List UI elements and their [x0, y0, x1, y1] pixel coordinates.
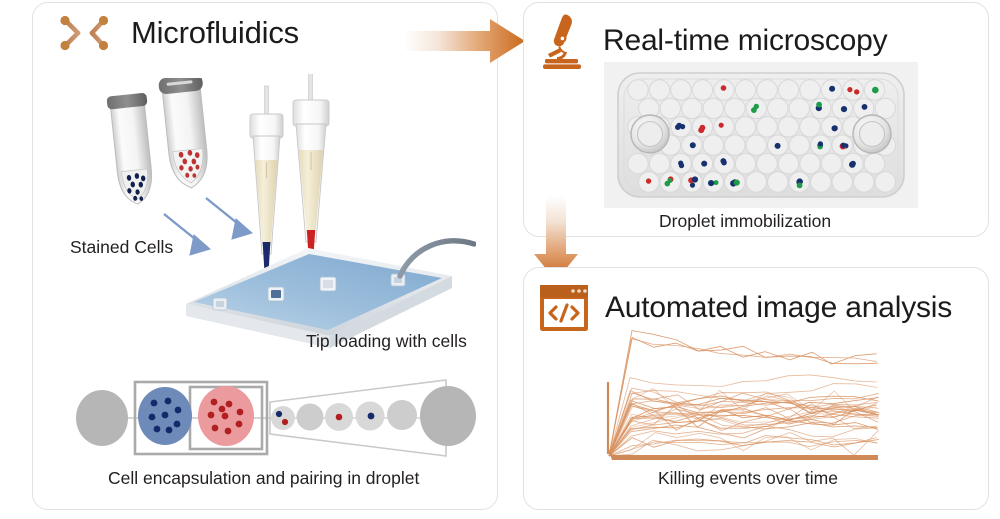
well [800, 117, 820, 137]
well [628, 80, 648, 100]
well [778, 117, 798, 137]
cell-dot [721, 85, 727, 91]
caption-killing-events: Killing events over time [658, 468, 838, 489]
well [821, 117, 841, 137]
chamber-outlet-port [853, 115, 891, 153]
well [864, 153, 884, 173]
well [778, 153, 798, 173]
cell-dot [692, 176, 698, 182]
well [778, 80, 798, 100]
well [703, 135, 723, 155]
cell-dot [816, 102, 822, 108]
caption-stained-cells: Stained Cells [70, 237, 173, 258]
well [757, 80, 777, 100]
well [821, 153, 841, 173]
well [671, 80, 691, 100]
trace-baseline [608, 448, 878, 460]
cell-dot [714, 180, 719, 185]
well [875, 172, 895, 192]
caption-encapsulation: Cell encapsulation and pairing in drople… [108, 468, 419, 489]
well [746, 135, 766, 155]
well [789, 135, 809, 155]
droplet-blue-cells [138, 387, 192, 445]
killing-event-traces [596, 322, 896, 468]
caption-tip-loading: Tip loading with cells [306, 331, 467, 352]
well [725, 135, 745, 155]
cell-dot [775, 143, 781, 149]
cell-dot [708, 180, 714, 186]
cell-dot [734, 180, 740, 186]
well [735, 117, 755, 137]
well [854, 172, 874, 192]
cell-dot [841, 143, 846, 148]
cell-dot [829, 86, 835, 92]
cell-dot [665, 181, 671, 187]
cell-dot [675, 124, 681, 130]
well [703, 98, 723, 118]
cell-dot [698, 127, 704, 133]
cell-dot [720, 158, 726, 164]
oil-droplet-lead [76, 390, 128, 446]
well [649, 153, 669, 173]
cell-dot [797, 183, 803, 189]
cell-dot [719, 123, 724, 128]
cell-dot [872, 87, 879, 94]
cell-dot [679, 163, 684, 168]
microfluidic-chip-icon [56, 12, 112, 54]
tube-blue-stained-cells [106, 93, 157, 207]
well [735, 153, 755, 173]
cell-dot [862, 104, 868, 110]
well [725, 98, 745, 118]
cell-dot [754, 104, 759, 109]
arrow-microfluidics-to-microscopy [404, 18, 526, 64]
cell-dot [832, 125, 838, 131]
well [811, 172, 831, 192]
channel-droplets [271, 386, 476, 446]
figure-root: Microfluidics [0, 0, 1000, 519]
well [757, 117, 777, 137]
well [649, 80, 669, 100]
tube-red-stained-cells [158, 78, 213, 190]
chamber-inlet-port [631, 115, 669, 153]
well [660, 98, 680, 118]
trace-line [609, 438, 879, 456]
oil-droplet-trail [420, 386, 476, 446]
heading-microscopy-label: Real-time microscopy [603, 24, 887, 58]
well [768, 98, 788, 118]
cell-dot [849, 161, 855, 167]
well [628, 153, 648, 173]
well [682, 98, 702, 118]
well [789, 98, 809, 118]
droplet-red-cells [198, 386, 254, 446]
well [757, 153, 777, 173]
heading-microfluidics: Microfluidics [56, 12, 299, 54]
well [746, 172, 766, 192]
caption-droplet-immobilization: Droplet immobilization [659, 211, 831, 232]
well [800, 153, 820, 173]
cell-dot [646, 178, 651, 183]
droplet-encapsulation-diagram [74, 372, 478, 464]
trace-line [609, 339, 877, 456]
well [843, 80, 863, 100]
well [692, 80, 712, 100]
cell-dot [818, 141, 823, 146]
droplet-immobilization-chamber [604, 62, 918, 208]
cell-dot [854, 89, 859, 94]
cell-dot [847, 87, 852, 92]
microscope-icon [540, 12, 588, 70]
trace-line [609, 413, 879, 456]
well [735, 80, 755, 100]
heading-microfluidics-label: Microfluidics [131, 15, 299, 51]
cell-dot [841, 106, 847, 112]
heading-analysis-label: Automated image analysis [605, 291, 952, 325]
well [832, 172, 852, 192]
well [800, 80, 820, 100]
well [768, 172, 788, 192]
cell-dot [701, 161, 707, 167]
code-window-icon [538, 282, 590, 334]
well [714, 117, 734, 137]
cell-dot [690, 142, 696, 148]
